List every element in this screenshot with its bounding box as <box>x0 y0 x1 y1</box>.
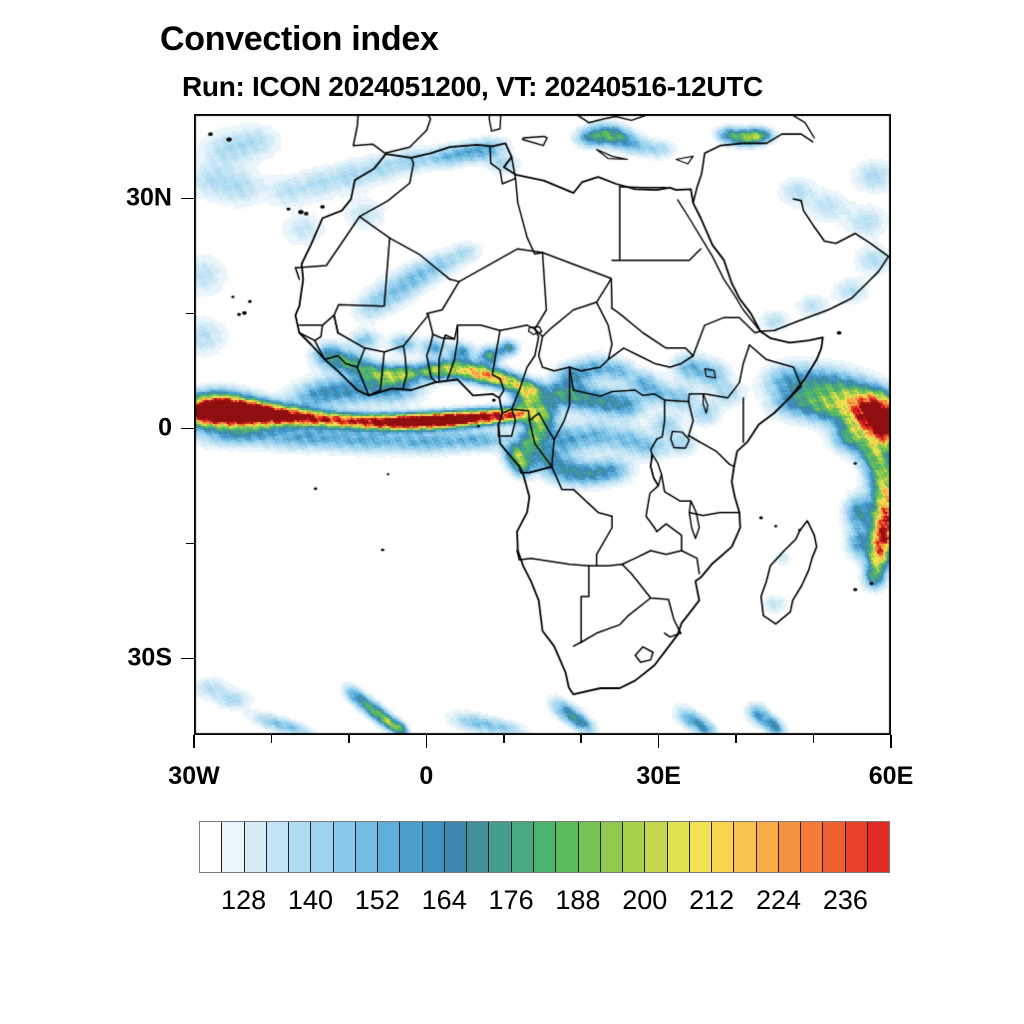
colorbar-cell <box>311 822 333 872</box>
x-tick <box>426 735 428 748</box>
colorbar-cell <box>668 822 690 872</box>
x-tick <box>890 735 892 748</box>
colorbar-tick-label: 224 <box>756 885 801 916</box>
x-axis-label: 60E <box>869 762 913 791</box>
convection-index-heatmap <box>195 115 890 734</box>
colorbar-cell <box>534 822 556 872</box>
colorbar-cell <box>400 822 422 872</box>
colorbar-tick-label: 200 <box>622 885 667 916</box>
map-frame <box>194 114 891 735</box>
colorbar-cell <box>601 822 623 872</box>
y-tick <box>181 658 194 660</box>
colorbar-cell <box>579 822 601 872</box>
colorbar-cell <box>423 822 445 872</box>
colorbar-cell <box>334 822 356 872</box>
colorbar-cell <box>801 822 823 872</box>
colorbar-cell <box>779 822 801 872</box>
colorbar-cell <box>222 822 244 872</box>
colorbar-cell <box>445 822 467 872</box>
colorbar-cell <box>846 822 868 872</box>
y-tick <box>181 428 194 430</box>
colorbar-cell <box>556 822 578 872</box>
colorbar-cell <box>512 822 534 872</box>
colorbar <box>199 821 890 873</box>
y-tick <box>186 313 194 315</box>
x-tick <box>735 735 737 743</box>
colorbar-cell <box>757 822 779 872</box>
colorbar-tick-label: 128 <box>221 885 266 916</box>
x-tick <box>813 735 815 743</box>
colorbar-tick-label: 236 <box>823 885 868 916</box>
colorbar-cell <box>489 822 511 872</box>
colorbar-tick-label: 164 <box>422 885 467 916</box>
colorbar-cell <box>868 822 889 872</box>
colorbar-cell <box>734 822 756 872</box>
colorbar-cell <box>289 822 311 872</box>
colorbar-tick-label: 188 <box>555 885 600 916</box>
y-tick <box>186 543 194 545</box>
y-axis-label: 30S <box>0 644 172 673</box>
y-tick <box>181 198 194 200</box>
colorbar-cell <box>690 822 712 872</box>
colorbar-cell <box>378 822 400 872</box>
colorbar-cell <box>823 822 845 872</box>
page-subtitle: Run: ICON 2024051200, VT: 20240516-12UTC <box>182 71 763 103</box>
x-tick <box>271 735 273 743</box>
y-axis-label: 0 <box>0 414 172 443</box>
x-axis-label: 30E <box>636 762 680 791</box>
colorbar-tick-label: 176 <box>489 885 534 916</box>
x-axis-label: 0 <box>419 762 433 791</box>
colorbar-cell <box>645 822 667 872</box>
x-tick <box>580 735 582 743</box>
colorbar-tick-label: 152 <box>355 885 400 916</box>
x-tick <box>193 735 195 748</box>
colorbar-cell <box>245 822 267 872</box>
colorbar-cell <box>467 822 489 872</box>
colorbar-cell <box>712 822 734 872</box>
page-title: Convection index <box>160 20 439 59</box>
colorbar-tick-label: 212 <box>689 885 734 916</box>
x-axis-label: 30W <box>168 762 219 791</box>
x-tick <box>348 735 350 743</box>
y-axis-label: 30N <box>0 184 172 213</box>
x-tick <box>503 735 505 743</box>
colorbar-cell <box>356 822 378 872</box>
colorbar-cell <box>267 822 289 872</box>
colorbar-tick-label: 140 <box>288 885 333 916</box>
x-tick <box>658 735 660 748</box>
colorbar-cell <box>623 822 645 872</box>
colorbar-cell <box>200 822 222 872</box>
